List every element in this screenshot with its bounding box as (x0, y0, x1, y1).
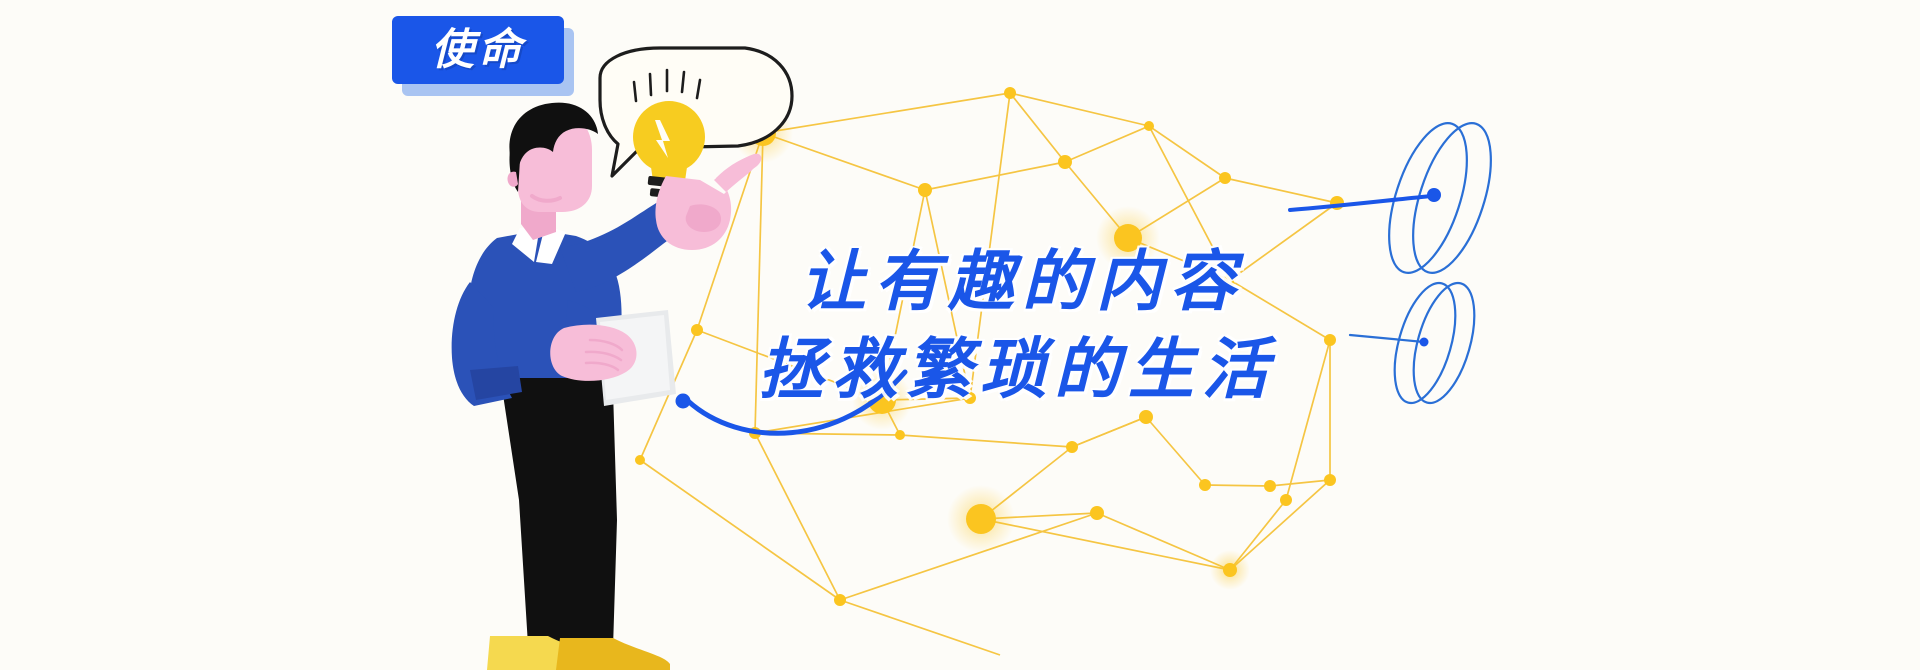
shoe-right (556, 638, 670, 670)
shoes (487, 636, 670, 670)
head (507, 103, 598, 212)
hand-lower (550, 325, 636, 381)
idea-bubble (600, 48, 792, 200)
mission-badge-face: 使命 (392, 16, 564, 84)
pointing-man-illustration (0, 0, 1920, 670)
mission-banner: 让有趣的内容 拯救繁琐的生活 (0, 0, 1920, 670)
mission-badge-label: 使命 (431, 29, 525, 72)
mission-badge[interactable]: 使命 (392, 16, 564, 84)
